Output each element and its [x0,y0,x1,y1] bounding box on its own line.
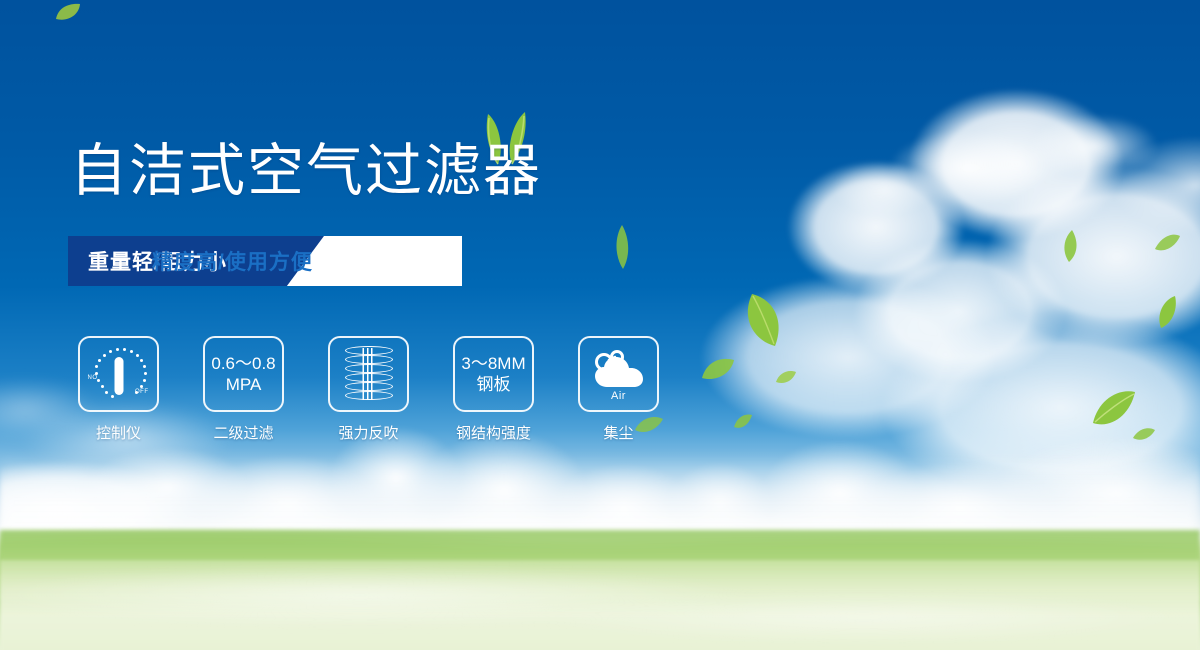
tagline-bar: 重量轻/阻力小 精度高/使用方便 [68,236,462,286]
steel-value-line1: 3〜8MM [461,353,525,374]
feature-box [328,336,409,412]
control-dial-icon: NO OFF [88,345,150,403]
tagline-right-label: 精度高/使用方便 [152,236,313,286]
feature-box: 3〜8MM 钢板 [453,336,534,412]
dial-label-off: OFF [135,389,149,395]
dial-label-no: NO [88,375,98,381]
product-hero-banner: 自洁式空气过滤器 重量轻/阻力小 精度高/使用方便 [0,0,1200,650]
feature-item-dust-collection[interactable]: Air 集尘 [578,336,659,443]
steel-value-line2: 钢板 [477,374,511,395]
coil-blowback-icon [345,346,393,402]
air-label: Air [590,390,648,402]
feature-box: 0.6〜0.8 MPA [203,336,284,412]
feature-list: NO OFF 控制仪 0.6〜0.8 MPA 二级过滤 [78,336,659,443]
feature-caption: 控制仪 [96,422,141,443]
feature-item-pressure[interactable]: 0.6〜0.8 MPA 二级过滤 [203,336,284,443]
dial-needle [114,357,123,395]
feature-caption: 集尘 [603,422,633,443]
pressure-value-line1: 0.6〜0.8 [211,353,275,374]
feature-box: Air [578,336,659,412]
feature-caption: 钢结构强度 [456,422,531,443]
feature-item-blowback[interactable]: 强力反吹 [328,336,409,443]
feature-item-control-dial[interactable]: NO OFF 控制仪 [78,336,159,443]
feature-caption: 二级过滤 [213,422,273,443]
feature-caption: 强力反吹 [338,422,398,443]
air-cloud-dust-icon: Air [590,348,648,400]
pressure-value-line2: MPA [226,374,262,395]
page-title: 自洁式空气过滤器 [70,143,542,200]
feature-box: NO OFF [78,336,159,412]
feature-item-steel-plate[interactable]: 3〜8MM 钢板 钢结构强度 [453,336,534,443]
